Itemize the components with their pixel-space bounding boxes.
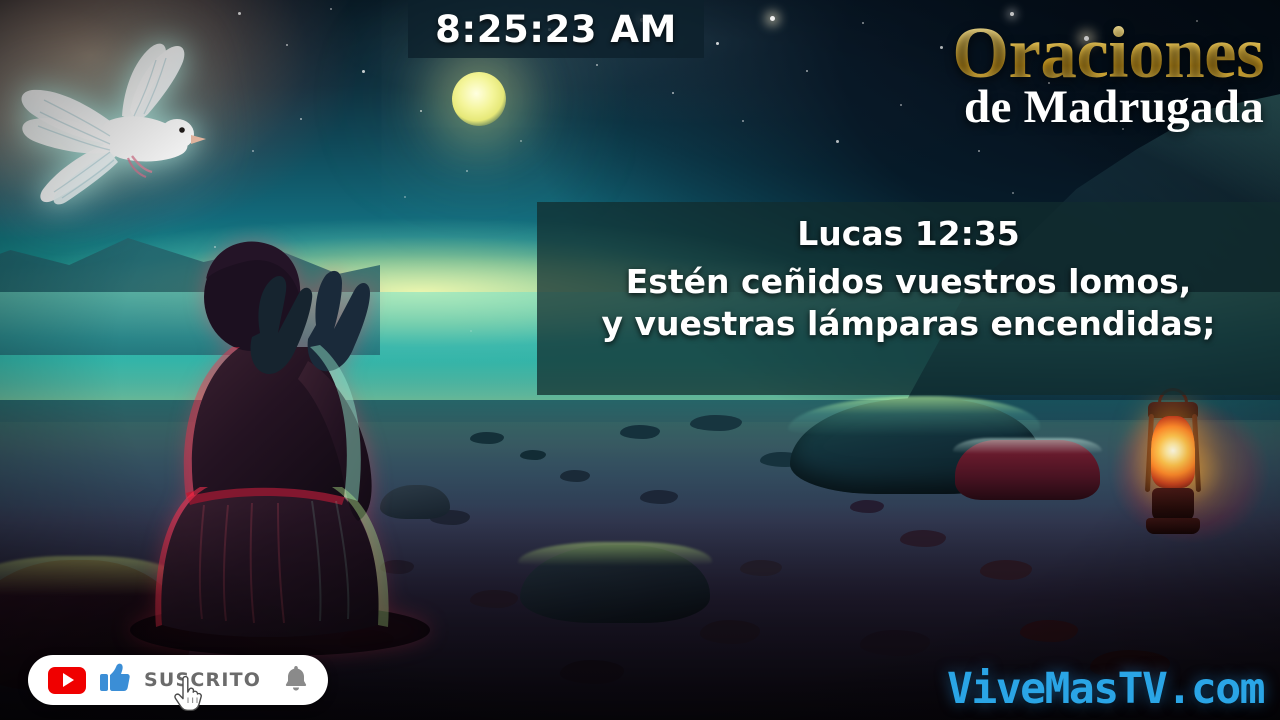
scripture-reference: Lucas 12:35: [537, 214, 1280, 253]
bell-icon[interactable]: [284, 665, 308, 696]
scripture-line-1: Estén ceñidos vuestros lomos,: [537, 261, 1280, 303]
brand-subtitle: de Madrugada: [952, 84, 1264, 132]
video-frame: 8:25:23 AM Oraciones de Madrugada Lucas …: [0, 0, 1280, 720]
site-watermark: ViveMasTV.com: [947, 664, 1264, 714]
youtube-play-icon[interactable]: [48, 667, 86, 694]
thumbs-up-icon[interactable]: [100, 663, 130, 697]
channel-branding: Oraciones de Madrugada: [952, 18, 1264, 132]
clock-time: 8:25:23 AM: [435, 8, 677, 51]
subscribe-label: SUSCRITO: [144, 669, 270, 691]
brand-title: Oraciones: [952, 18, 1264, 88]
subscribe-bar[interactable]: SUSCRITO: [28, 655, 328, 705]
scripture-line-2: y vuestras lámparas encendidas;: [537, 303, 1280, 345]
scripture-overlay: Lucas 12:35 Estén ceñidos vuestros lomos…: [537, 202, 1280, 395]
clock-overlay: 8:25:23 AM: [408, 0, 704, 58]
